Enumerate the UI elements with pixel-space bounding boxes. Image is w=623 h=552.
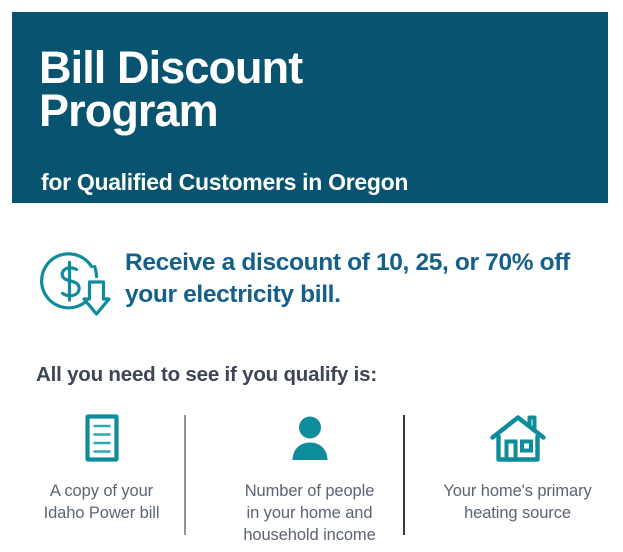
bill-discount-program-flyer: Bill Discount Program for Qualified Cust…	[0, 0, 623, 552]
requirement-item-bill: A copy of your Idaho Power bill	[14, 412, 189, 525]
house-icon	[420, 412, 615, 470]
requirement-caption: Number of people in your home and househ…	[207, 481, 412, 546]
page-subtitle: for Qualified Customers in Oregon	[41, 170, 581, 195]
requirement-caption: A copy of your Idaho Power bill	[14, 481, 189, 525]
requirement-item-heating: Your home's primary heating source	[420, 412, 615, 525]
requirement-caption: Your home's primary heating source	[420, 481, 615, 525]
person-icon	[207, 412, 412, 470]
dollar-circle-down-arrow-icon	[33, 244, 111, 322]
requirement-item-household: Number of people in your home and househ…	[207, 412, 412, 546]
discount-callout-text: Receive a discount of 10, 25, or 70% off…	[125, 247, 575, 311]
page-title: Bill Discount Program	[39, 46, 579, 132]
discount-callout: Receive a discount of 10, 25, or 70% off…	[33, 240, 593, 332]
document-icon	[14, 412, 189, 470]
qualify-heading: All you need to see if you qualify is:	[36, 363, 596, 387]
requirements-row: A copy of your Idaho Power bill Number o…	[12, 412, 612, 552]
header-banner: Bill Discount Program for Qualified Cust…	[12, 12, 608, 203]
